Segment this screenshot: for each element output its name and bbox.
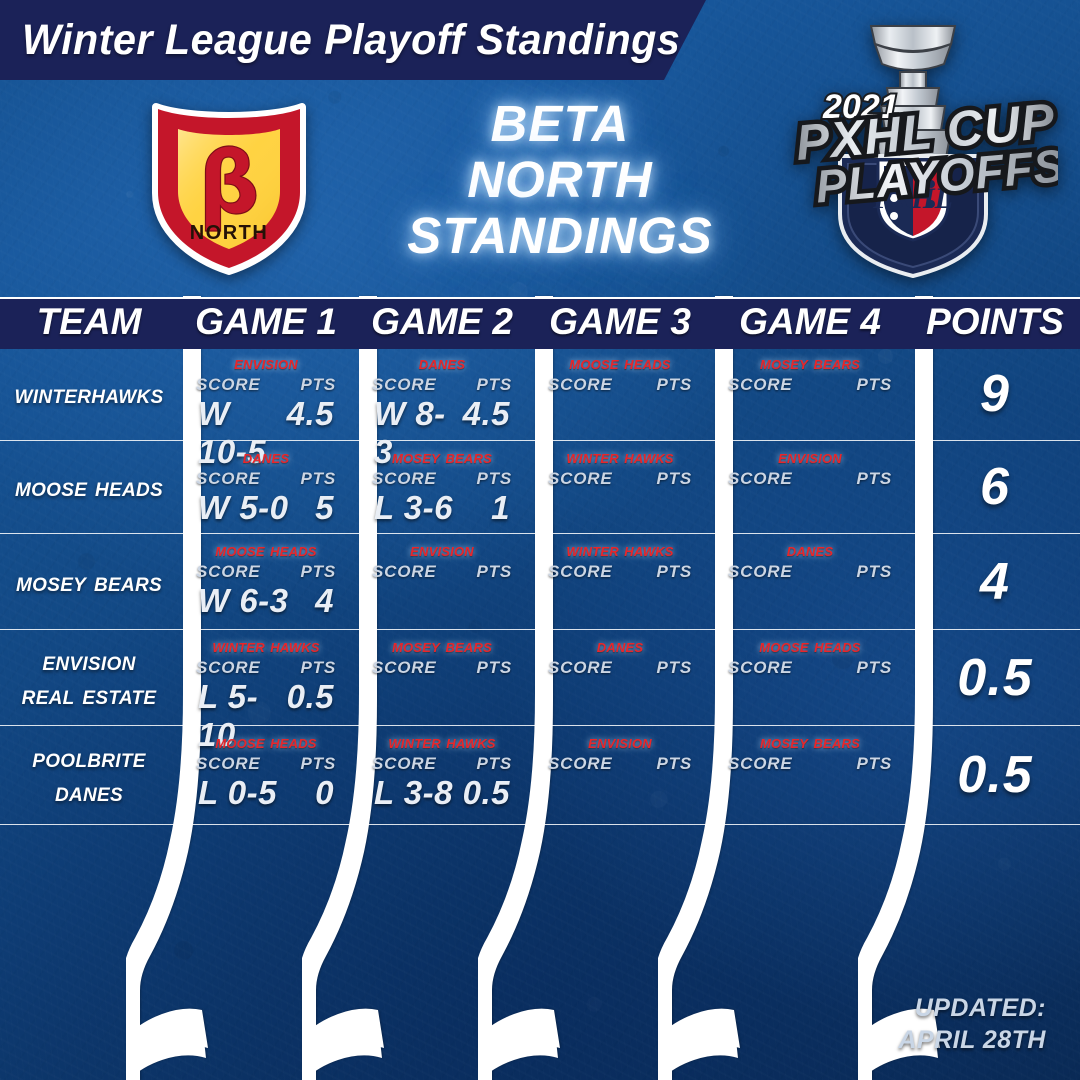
team-name-line: Envision xyxy=(42,644,135,678)
game-cell-4[interactable]: Mosey bearsSCOREPTS xyxy=(710,726,910,824)
table-row[interactable]: PoolBriteDanesMoose HeadsSCOREPTSL 0-50W… xyxy=(0,726,1080,825)
score-pts-subheader: SCOREPTS xyxy=(354,375,530,395)
score-subheader: SCORE xyxy=(372,658,436,678)
pts-subheader: PTS xyxy=(477,658,512,678)
pts-subheader: PTS xyxy=(301,658,336,678)
score-subheader: SCORE xyxy=(372,562,436,582)
pts-subheader: PTS xyxy=(301,375,336,395)
column-header-game-1: GAME 1 xyxy=(178,298,354,346)
pts-subheader: PTS xyxy=(301,754,336,774)
pxhl-cup-playoffs-logo: PXHL 2021 PXHL CUP PLAYOFFS xyxy=(768,8,1058,284)
opponent-label: Mosey Bears xyxy=(710,353,910,375)
team-name: Moose Heads xyxy=(0,441,178,533)
opponent-label: Danes xyxy=(178,447,354,469)
game-score-value: L 3-6 xyxy=(374,489,453,527)
points-cell: 4 xyxy=(910,534,1080,629)
game-pts-value: 5 xyxy=(315,489,334,527)
team-cell: PoolBriteDanes xyxy=(0,726,178,824)
score-pts-subheader: SCOREPTS xyxy=(354,754,530,774)
game-result: L 3-61 xyxy=(354,489,530,527)
score-subheader: SCORE xyxy=(728,375,792,395)
updated-date: APRIL 28TH xyxy=(898,1024,1046,1056)
beta-north-label: NORTH xyxy=(190,222,269,244)
score-subheader: SCORE xyxy=(548,754,612,774)
standings-table-body: WinterhawksEnvisionSCOREPTSW 10-54.5Dane… xyxy=(0,347,1080,825)
opponent-label: Winter Hawks xyxy=(178,636,354,658)
game-cell-1[interactable]: EnvisionSCOREPTSW 10-54.5 xyxy=(178,347,354,440)
score-subheader: SCORE xyxy=(196,469,260,489)
score-pts-subheader: SCOREPTS xyxy=(710,469,910,489)
game-cell-1[interactable]: Winter HawksSCOREPTSL 5-100.5 xyxy=(178,630,354,725)
pts-subheader: PTS xyxy=(857,469,892,489)
game-cell-1[interactable]: Moose HeadsSCOREPTSW 6-34 xyxy=(178,534,354,629)
column-header-team: TEAM xyxy=(0,298,178,346)
game-cell-2[interactable]: Mosey BearsSCOREPTSL 3-61 xyxy=(354,441,530,533)
opponent-label: Moose Heads xyxy=(710,636,910,658)
table-row[interactable]: Envisionreal EstateWinter HawksSCOREPTSL… xyxy=(0,630,1080,726)
pts-subheader: PTS xyxy=(657,658,692,678)
pts-subheader: PTS xyxy=(857,754,892,774)
team-name-line: Moose Heads xyxy=(15,470,163,504)
standings-graphic: Winter League Playoff Standings β NORTH … xyxy=(0,0,1080,1080)
team-name: PoolBriteDanes xyxy=(0,726,178,824)
points-value: 6 xyxy=(910,441,1080,533)
pts-subheader: PTS xyxy=(657,562,692,582)
game-cell-2[interactable]: Winter HawksSCOREPTSL 3-80.5 xyxy=(354,726,530,824)
pts-subheader: PTS xyxy=(477,562,512,582)
opponent-label: Winter Hawks xyxy=(530,540,710,562)
score-subheader: SCORE xyxy=(548,375,612,395)
game-cell-2[interactable]: EnvisionSCOREPTS xyxy=(354,534,530,629)
game-cell-3[interactable]: DanesSCOREPTS xyxy=(530,630,710,725)
opponent-label: Envision xyxy=(530,732,710,754)
opponent-label: Danes xyxy=(530,636,710,658)
team-name-line: Danes xyxy=(55,775,123,809)
game-cell-1[interactable]: Moose HeadsSCOREPTSL 0-50 xyxy=(178,726,354,824)
game-result: L 3-80.5 xyxy=(354,774,530,812)
heading-line-2: NORTH xyxy=(360,152,760,208)
game-cell-2[interactable]: DanesSCOREPTSW 8-34.5 xyxy=(354,347,530,440)
points-cell: 9 xyxy=(910,347,1080,440)
game-score-value: W 5-0 xyxy=(198,489,289,527)
column-header-game-2: GAME 2 xyxy=(354,298,530,346)
score-subheader: SCORE xyxy=(548,562,612,582)
pts-subheader: PTS xyxy=(857,658,892,678)
game-pts-value: 4 xyxy=(315,582,334,620)
score-subheader: SCORE xyxy=(728,562,792,582)
score-pts-subheader: SCOREPTS xyxy=(710,658,910,678)
opponent-label: Envision xyxy=(710,447,910,469)
opponent-label: Moose Heads xyxy=(178,540,354,562)
section-heading: BETA NORTH STANDINGS xyxy=(360,96,760,264)
opponent-label: Winter Hawks xyxy=(530,447,710,469)
game-cell-4[interactable]: Moose HeadsSCOREPTS xyxy=(710,630,910,725)
opponent-label: Envision xyxy=(354,540,530,562)
team-cell: Moose Heads xyxy=(0,441,178,533)
pts-subheader: PTS xyxy=(477,375,512,395)
opponent-label: Mosey Bears xyxy=(354,447,530,469)
points-value: 4 xyxy=(910,534,1080,629)
table-row[interactable]: Moose HeadsDanesSCOREPTSW 5-05Mosey Bear… xyxy=(0,441,1080,534)
pts-subheader: PTS xyxy=(477,754,512,774)
team-name: Winterhawks xyxy=(0,347,178,440)
score-subheader: SCORE xyxy=(372,375,436,395)
score-subheader: SCORE xyxy=(196,562,260,582)
pts-subheader: PTS xyxy=(857,375,892,395)
pts-subheader: PTS xyxy=(657,469,692,489)
game-cell-3[interactable]: Winter HawksSCOREPTS xyxy=(530,441,710,533)
score-pts-subheader: SCOREPTS xyxy=(530,754,710,774)
pts-subheader: PTS xyxy=(477,469,512,489)
updated-stamp: UPDATED: APRIL 28TH xyxy=(898,992,1046,1056)
points-value: 0.5 xyxy=(910,630,1080,725)
score-subheader: SCORE xyxy=(728,469,792,489)
points-cell: 0.5 xyxy=(910,726,1080,824)
score-subheader: SCORE xyxy=(372,754,436,774)
column-header-points: POINTS xyxy=(910,298,1080,346)
game-pts-value: 0.5 xyxy=(463,774,510,812)
updated-label: UPDATED: xyxy=(898,992,1046,1024)
score-subheader: SCORE xyxy=(372,469,436,489)
team-name: Mosey Bears xyxy=(0,534,178,629)
opponent-label: Winter Hawks xyxy=(354,732,530,754)
score-pts-subheader: SCOREPTS xyxy=(354,469,530,489)
score-pts-subheader: SCOREPTS xyxy=(354,562,530,582)
game-result: W 6-34 xyxy=(178,582,354,620)
column-header-game-4: GAME 4 xyxy=(710,298,910,346)
score-subheader: SCORE xyxy=(196,754,260,774)
score-subheader: SCORE xyxy=(728,754,792,774)
score-pts-subheader: SCOREPTS xyxy=(178,375,354,395)
heading-line-3: STANDINGS xyxy=(360,208,760,264)
score-subheader: SCORE xyxy=(728,658,792,678)
score-subheader: SCORE xyxy=(548,469,612,489)
game-cell-3[interactable]: Winter HawksSCOREPTS xyxy=(530,534,710,629)
game-cell-4[interactable]: EnvisionSCOREPTS xyxy=(710,441,910,533)
team-name-line: Winterhawks xyxy=(15,377,164,411)
points-cell: 0.5 xyxy=(910,630,1080,725)
score-pts-subheader: SCOREPTS xyxy=(178,469,354,489)
game-cell-4[interactable]: Mosey BearsSCOREPTS xyxy=(710,347,910,440)
pts-subheader: PTS xyxy=(301,469,336,489)
team-name-line: PoolBrite xyxy=(32,741,146,775)
team-cell: Mosey Bears xyxy=(0,534,178,629)
team-name: Envisionreal Estate xyxy=(0,630,178,725)
opponent-label: Danes xyxy=(354,353,530,375)
game-result: L 0-50 xyxy=(178,774,354,812)
game-result: W 5-05 xyxy=(178,489,354,527)
game-cell-4[interactable]: DanesSCOREPTS xyxy=(710,534,910,629)
team-cell: Winterhawks xyxy=(0,347,178,440)
game-cell-3[interactable]: Moose HeadsSCOREPTS xyxy=(530,347,710,440)
table-row[interactable]: Mosey BearsMoose HeadsSCOREPTSW 6-34Envi… xyxy=(0,534,1080,630)
score-subheader: SCORE xyxy=(548,658,612,678)
score-pts-subheader: SCOREPTS xyxy=(710,754,910,774)
game-score-value: W 6-3 xyxy=(198,582,289,620)
opponent-label: Mosey bears xyxy=(354,636,530,658)
column-header-game-3: GAME 3 xyxy=(530,298,710,346)
score-pts-subheader: SCOREPTS xyxy=(710,375,910,395)
game-pts-value: 0 xyxy=(315,774,334,812)
page-title: Winter League Playoff Standings xyxy=(22,12,656,68)
score-pts-subheader: SCOREPTS xyxy=(530,658,710,678)
score-pts-subheader: SCOREPTS xyxy=(530,375,710,395)
score-pts-subheader: SCOREPTS xyxy=(178,562,354,582)
game-score-value: L 3-8 xyxy=(374,774,453,812)
score-pts-subheader: SCOREPTS xyxy=(530,469,710,489)
heading-line-1: BETA xyxy=(360,96,760,152)
team-cell: Envisionreal Estate xyxy=(0,630,178,725)
opponent-label: Mosey bears xyxy=(710,732,910,754)
score-subheader: SCORE xyxy=(196,375,260,395)
opponent-label: Envision xyxy=(178,353,354,375)
game-cell-1[interactable]: DanesSCOREPTSW 5-05 xyxy=(178,441,354,533)
beta-shield-logo: β NORTH xyxy=(148,97,310,275)
points-cell: 6 xyxy=(910,441,1080,533)
table-row[interactable]: WinterhawksEnvisionSCOREPTSW 10-54.5Dane… xyxy=(0,347,1080,441)
game-cell-3[interactable]: EnvisionSCOREPTS xyxy=(530,726,710,824)
game-pts-value: 1 xyxy=(491,489,510,527)
pts-subheader: PTS xyxy=(657,375,692,395)
opponent-label: Moose Heads xyxy=(178,732,354,754)
pts-subheader: PTS xyxy=(657,754,692,774)
points-value: 9 xyxy=(910,347,1080,440)
game-score-value: L 0-5 xyxy=(198,774,277,812)
team-name-line: real Estate xyxy=(22,678,157,712)
opponent-label: Danes xyxy=(710,540,910,562)
score-pts-subheader: SCOREPTS xyxy=(530,562,710,582)
points-value: 0.5 xyxy=(910,726,1080,824)
score-subheader: SCORE xyxy=(196,658,260,678)
team-name-line: Mosey Bears xyxy=(16,565,162,599)
pts-subheader: PTS xyxy=(857,562,892,582)
score-pts-subheader: SCOREPTS xyxy=(354,658,530,678)
game-cell-2[interactable]: Mosey bearsSCOREPTS xyxy=(354,630,530,725)
opponent-label: Moose Heads xyxy=(530,353,710,375)
beta-symbol: β xyxy=(198,134,260,234)
pts-subheader: PTS xyxy=(301,562,336,582)
score-pts-subheader: SCOREPTS xyxy=(710,562,910,582)
score-pts-subheader: SCOREPTS xyxy=(178,658,354,678)
score-pts-subheader: SCOREPTS xyxy=(178,754,354,774)
